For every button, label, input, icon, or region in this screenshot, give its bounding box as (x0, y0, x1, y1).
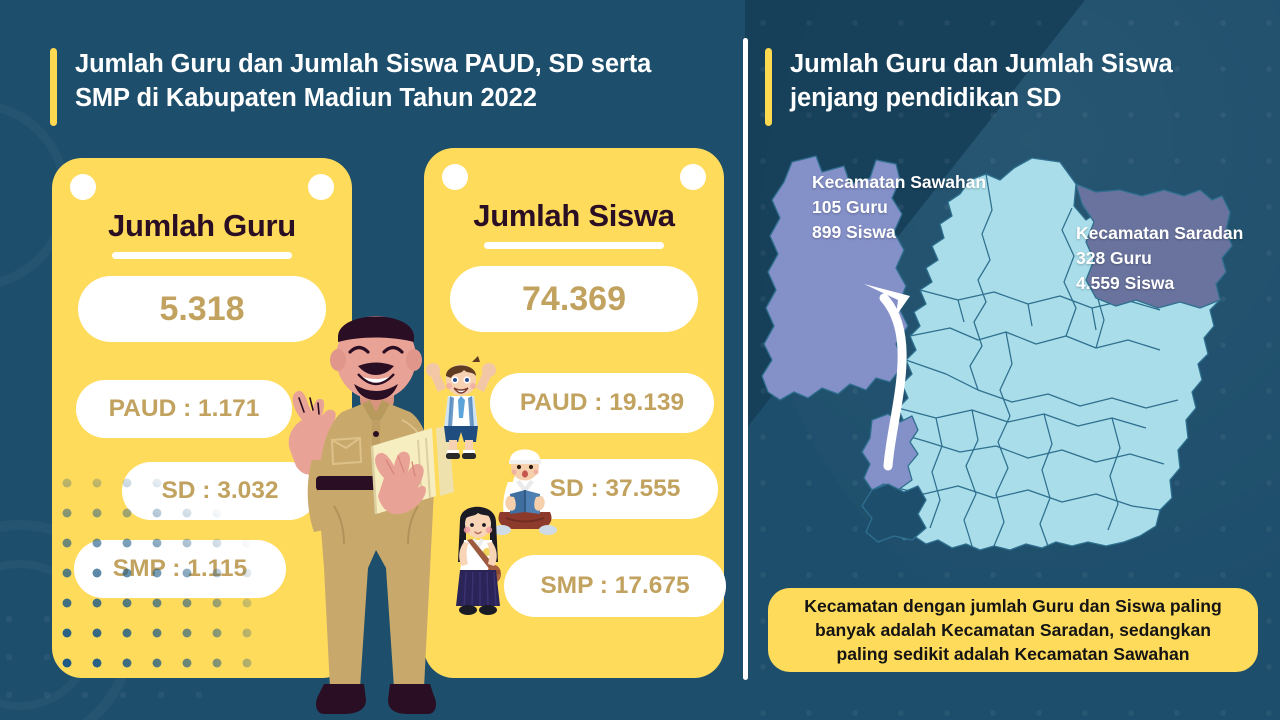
map-region-dark-patch (862, 484, 926, 542)
student-girl-illustration (442, 498, 514, 620)
siswa-total-value: 74.369 (450, 266, 698, 332)
punch-hole-icon (70, 174, 96, 200)
guru-smp-value: SMP : 1.115 (74, 540, 286, 598)
map-label-saradan: Kecamatan Saradan 328 Guru 4.559 Siswa (1076, 221, 1243, 296)
title-accent-bar (765, 48, 772, 126)
card-siswa-title: Jumlah Siswa (424, 198, 724, 234)
punch-hole-icon (308, 174, 334, 200)
siswa-smp-value: SMP : 17.675 (504, 555, 726, 617)
right-title-text: Jumlah Guru dan Jumlah Siswa jenjang pen… (790, 48, 1173, 116)
infographic-canvas: Jumlah Guru dan Jumlah Siswa PAUD, SD se… (0, 0, 1280, 720)
guru-paud-value: PAUD : 1.171 (76, 380, 292, 438)
map-label-sawahan: Kecamatan Sawahan 105 Guru 899 Siswa (812, 170, 986, 245)
punch-hole-icon (680, 164, 706, 190)
conclusion-text: Kecamatan dengan jumlah Guru dan Siswa p… (804, 594, 1221, 667)
card-guru-title: Jumlah Guru (52, 208, 352, 244)
punch-hole-icon (442, 164, 468, 190)
title-accent-bar (50, 48, 57, 126)
card-title-underline (484, 242, 664, 249)
left-panel-title: Jumlah Guru dan Jumlah Siswa PAUD, SD se… (50, 48, 710, 126)
left-title-text: Jumlah Guru dan Jumlah Siswa PAUD, SD se… (75, 48, 651, 116)
card-title-underline (112, 252, 292, 259)
conclusion-callout: Kecamatan dengan jumlah Guru dan Siswa p… (768, 588, 1258, 672)
panel-divider (743, 38, 748, 680)
siswa-paud-value: PAUD : 19.139 (490, 373, 714, 433)
right-panel-title: Jumlah Guru dan Jumlah Siswa jenjang pen… (765, 48, 1235, 126)
